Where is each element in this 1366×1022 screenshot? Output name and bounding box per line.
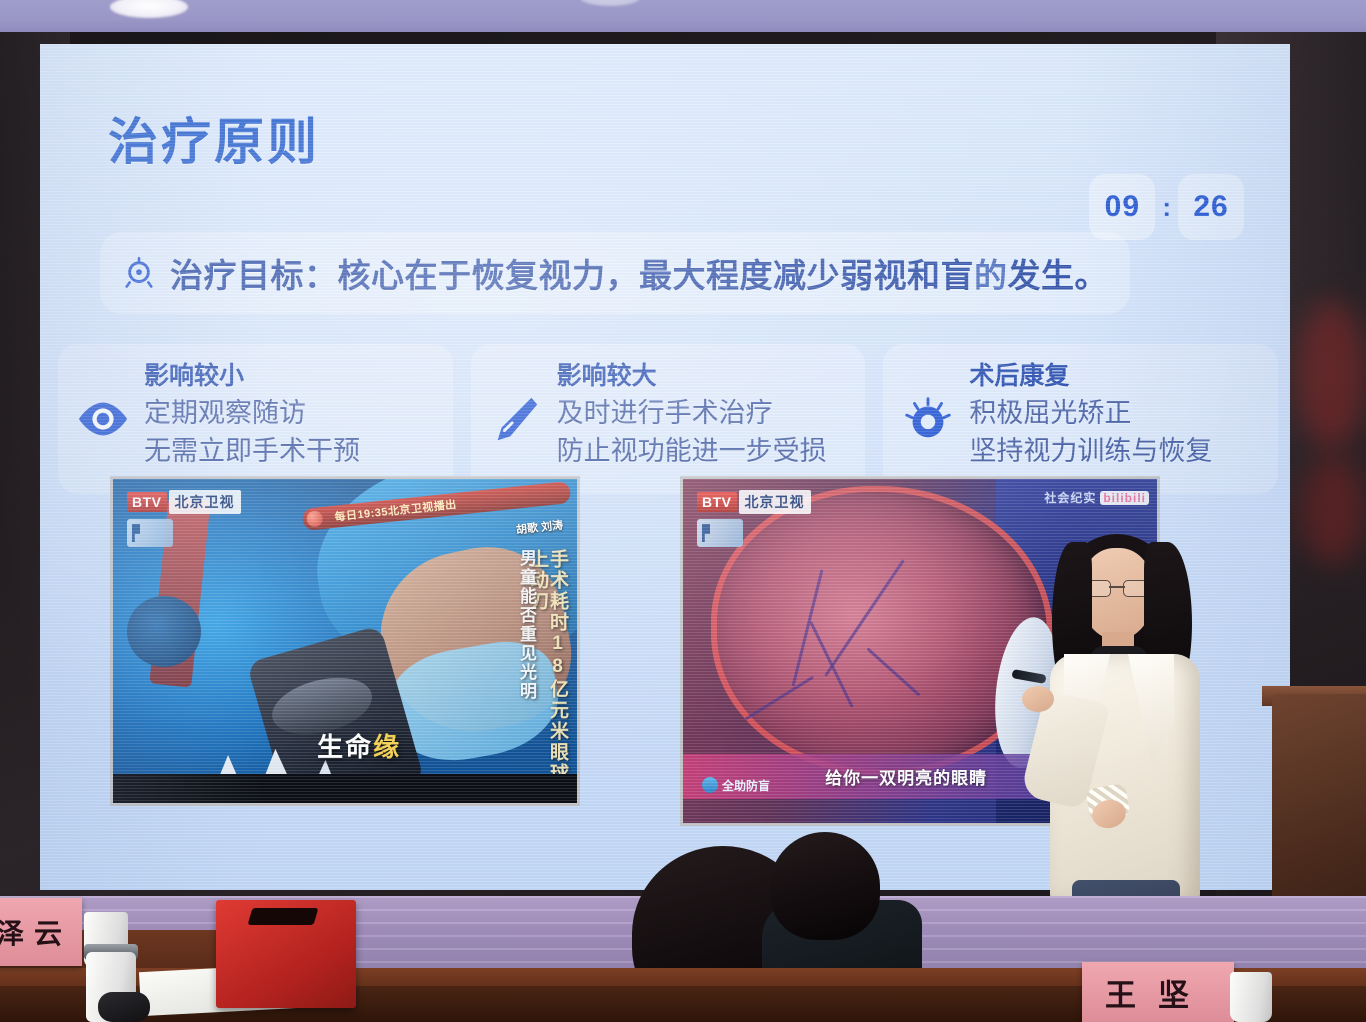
campaign-badge-left: 全助防盲 — [702, 777, 770, 794]
treatment-goal-text: 治疗目标：核心在于恢复视力，最大程度减少弱视和盲的发生。 — [170, 249, 1108, 297]
campaign-badge-icon — [702, 777, 718, 793]
card-body: 积极屈光矫正 坚持视力训练与恢复 — [969, 394, 1264, 471]
video-vertical-title-secondary: 男童能否重见光明 — [517, 549, 535, 701]
goal-tail: 发生。 — [1008, 257, 1109, 294]
card-heading: 影响较大 — [557, 356, 852, 392]
clock-minutes: 26 — [1178, 174, 1244, 240]
btv-channel-name: 北京卫视 — [169, 490, 241, 514]
target-eye-icon — [122, 256, 156, 290]
btv-channel-name: 北京卫视 — [739, 490, 811, 514]
session-clock: 09 : 26 — [1089, 174, 1244, 240]
card-body: 及时进行手术治疗 防止视功能进一步受损 — [557, 394, 852, 471]
show-logo-accent: 缘 — [373, 732, 401, 762]
microphone — [98, 992, 150, 1022]
show-logo-text: 生命 — [317, 732, 373, 762]
card-major-impact[interactable]: 影响较大 及时进行手术治疗 防止视功能进一步受损 — [471, 344, 866, 494]
microscope-lens — [127, 596, 201, 667]
bilibili-logo: bilibili — [1100, 491, 1149, 505]
card-line: 防止视功能进一步受损 — [557, 432, 852, 470]
show-logo: 生命缘 — [317, 727, 401, 764]
card-minor-impact[interactable]: 影响较小 定期观察随访 无需立即手术干预 — [58, 344, 453, 494]
card-body: 定期观察随访 无需立即手术干预 — [144, 394, 439, 471]
eye-icon — [76, 392, 130, 446]
left-video-thumbnail[interactable]: BTV 北京卫视 每日19:35北京卫视播出 胡歌 刘涛 手术耗时18亿元米眼球… — [110, 476, 580, 806]
goal-label: 治疗目标： — [170, 257, 338, 294]
card-line: 定期观察随访 — [144, 394, 439, 432]
treatment-goal-banner: 治疗目标：核心在于恢复视力，最大程度减少弱视和盲的发生。 — [100, 232, 1130, 314]
background-red-glow — [1300, 455, 1366, 565]
background-red-glow — [1296, 300, 1366, 450]
presenter — [1036, 528, 1236, 948]
btv-mark: BTV — [127, 492, 167, 512]
social-watermark: 社会纪实bilibili — [1044, 489, 1149, 506]
ceiling — [0, 0, 1366, 36]
goal-tail-soft: 的 — [974, 257, 1008, 294]
ceiling-light-icon — [110, 0, 188, 18]
card-post-op-recovery[interactable]: 术后康复 积极屈光矫正 坚持视力训练与恢复 — [883, 344, 1278, 494]
btv-logo: BTV 北京卫视 — [697, 491, 811, 513]
card-heading: 术后康复 — [969, 356, 1264, 392]
card-heading: 影响较小 — [144, 356, 439, 392]
paper-cup — [1230, 972, 1272, 1022]
card-line: 及时进行手术治疗 — [557, 394, 852, 432]
campaign-badge-text: 全助防盲 — [722, 777, 770, 794]
btv-mark: BTV — [697, 492, 737, 512]
pupil-ring-icon — [901, 392, 955, 446]
left-video-frame: BTV 北京卫视 每日19:35北京卫视播出 胡歌 刘涛 手术耗时18亿元米眼球… — [113, 479, 577, 803]
btv-secondary-logo-icon — [697, 519, 743, 547]
conference-room-scene: 治疗原则 09 : 26 治疗目标：核心在于恢复视力，最大程度减少弱视和盲的发生… — [0, 0, 1366, 1022]
btv-secondary-logo-icon — [127, 519, 173, 547]
tissue-box-slot — [248, 908, 319, 925]
goal-main: 核心在于恢复视力，最大程度减少弱视和盲 — [338, 257, 975, 294]
video-letterbox — [113, 774, 577, 803]
social-label: 社会纪实 — [1044, 491, 1096, 505]
scalpel-icon — [489, 392, 543, 446]
card-line: 坚持视力训练与恢复 — [969, 432, 1264, 470]
ticker-dot-icon — [306, 510, 324, 528]
clock-separator: : — [1161, 192, 1172, 223]
nameplate-right: 王坚 — [1082, 962, 1234, 1022]
btv-logo: BTV 北京卫视 — [127, 491, 241, 513]
presenter-hand — [1022, 686, 1054, 712]
card-line: 积极屈光矫正 — [969, 394, 1264, 432]
page-title: 治疗原则 — [108, 102, 320, 174]
video-caption-text: 给你一双明亮的眼睛 — [825, 764, 987, 789]
principle-cards: 影响较小 定期观察随访 无需立即手术干预 影响较大 及时进行手术治疗 防止视功能… — [58, 344, 1278, 494]
ceiling-light-icon — [580, 0, 640, 6]
card-line: 无需立即手术干预 — [144, 432, 439, 470]
glasses-icon — [1082, 580, 1152, 595]
clock-hours: 09 — [1089, 174, 1155, 240]
nameplate-left: 泽云 — [0, 898, 82, 966]
audience-member — [770, 832, 880, 940]
